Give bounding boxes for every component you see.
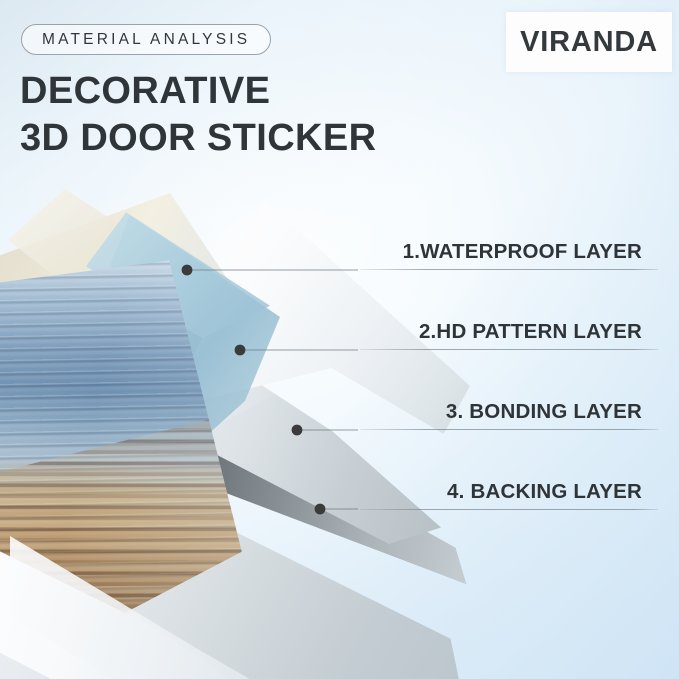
- badge-label: MATERIAL ANALYSIS: [42, 31, 250, 49]
- layer-label-4: 4. BACKING LAYER: [360, 480, 660, 510]
- infographic-canvas: MATERIAL ANALYSIS DECORATIVE 3D DOOR STI…: [0, 0, 679, 679]
- layer-label-1: 1.WATERPROOF LAYER: [360, 240, 660, 270]
- layer-label-3-rule: [360, 429, 658, 430]
- layer-label-2-text: 2.HD PATTERN LAYER: [360, 320, 660, 349]
- brand-name: VIRANDA: [520, 26, 658, 59]
- layer-label-4-rule: [360, 509, 658, 510]
- layer-label-4-text: 4. BACKING LAYER: [360, 480, 660, 509]
- material-analysis-badge: MATERIAL ANALYSIS: [21, 24, 271, 55]
- layer-label-3-text: 3. BONDING LAYER: [360, 400, 660, 429]
- headline-line-1: DECORATIVE: [20, 68, 450, 115]
- layer-label-2-rule: [360, 349, 658, 350]
- page-title: DECORATIVE 3D DOOR STICKER: [20, 68, 450, 162]
- layer-label-3: 3. BONDING LAYER: [360, 400, 660, 430]
- layer-label-2: 2.HD PATTERN LAYER: [360, 320, 660, 350]
- headline-line-2: 3D DOOR STICKER: [20, 115, 450, 162]
- brand-logo-box: VIRANDA: [506, 12, 672, 72]
- layer-label-1-text: 1.WATERPROOF LAYER: [360, 240, 660, 269]
- layer-label-1-rule: [360, 269, 658, 270]
